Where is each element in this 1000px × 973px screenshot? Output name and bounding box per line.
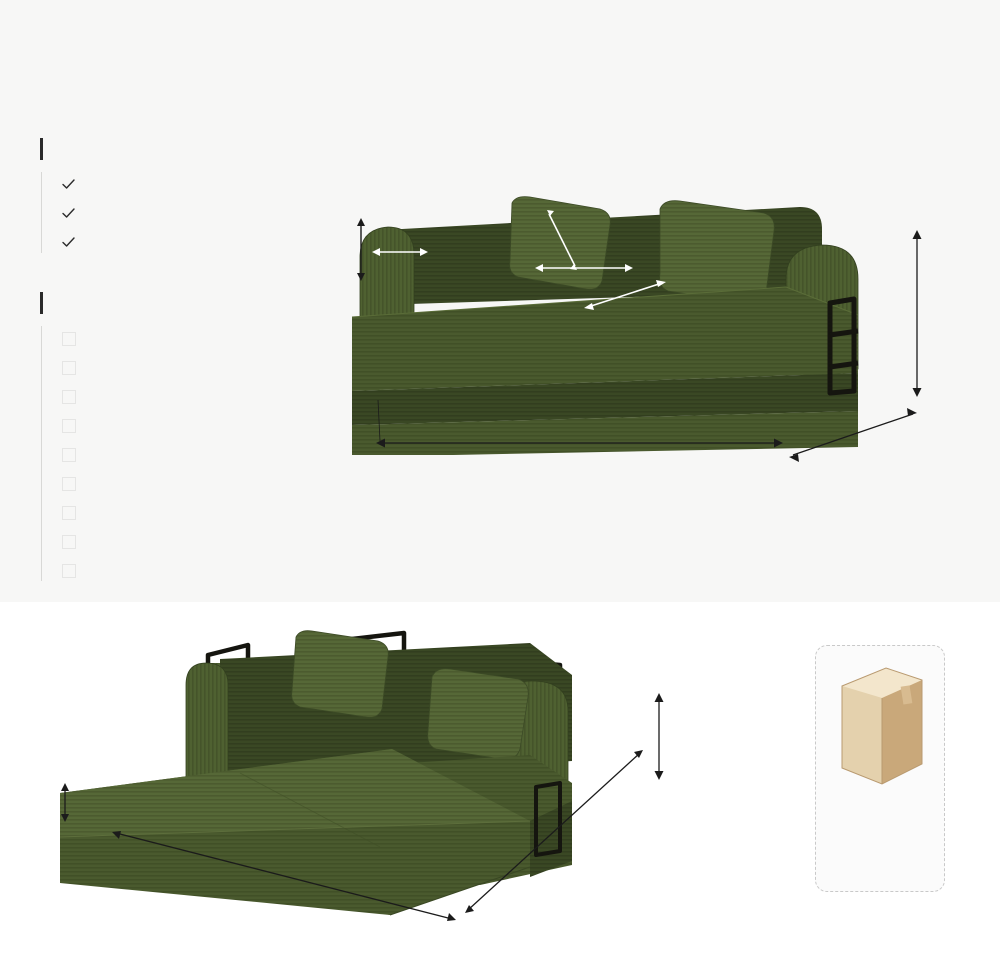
colour-palette-heading <box>40 292 88 314</box>
list-item <box>62 556 88 585</box>
shipping-box-card <box>815 645 945 892</box>
product-dimension-infographic <box>0 0 1000 973</box>
list-item <box>62 498 88 527</box>
list-item <box>62 440 88 469</box>
list-item <box>62 411 88 440</box>
colour-swatch <box>62 419 76 433</box>
check-icon <box>62 178 75 191</box>
colour-swatch <box>62 448 76 462</box>
colour-swatch <box>62 361 76 375</box>
shipping-note-text <box>832 801 936 868</box>
section-accent-bar <box>40 138 43 160</box>
colour-swatch <box>62 477 76 491</box>
colour-swatch <box>62 564 76 578</box>
list-item <box>62 469 88 498</box>
list-item <box>62 324 88 353</box>
check-icon <box>62 236 75 249</box>
sleeper-illustration <box>60 615 740 935</box>
colour-swatch <box>62 535 76 549</box>
list-item <box>62 527 88 556</box>
colour-swatch <box>62 332 76 346</box>
colour-swatch <box>62 506 76 520</box>
environment-list <box>40 170 87 257</box>
environment-section <box>40 138 87 257</box>
list-item <box>62 353 88 382</box>
colour-swatch <box>62 390 76 404</box>
colour-palette-section <box>40 292 88 585</box>
list-item <box>62 228 87 257</box>
colour-palette-list <box>40 324 88 585</box>
cardboard-box-icon <box>838 664 926 788</box>
loveseat-caption-sub <box>591 552 601 566</box>
section-accent-bar <box>40 292 43 314</box>
environment-heading <box>40 138 87 160</box>
list-item <box>62 382 88 411</box>
loveseat-illustration <box>330 195 950 455</box>
list-item <box>62 199 87 228</box>
sleeper-caption-sub <box>591 957 601 971</box>
list-item <box>62 170 87 199</box>
check-icon <box>62 207 75 220</box>
